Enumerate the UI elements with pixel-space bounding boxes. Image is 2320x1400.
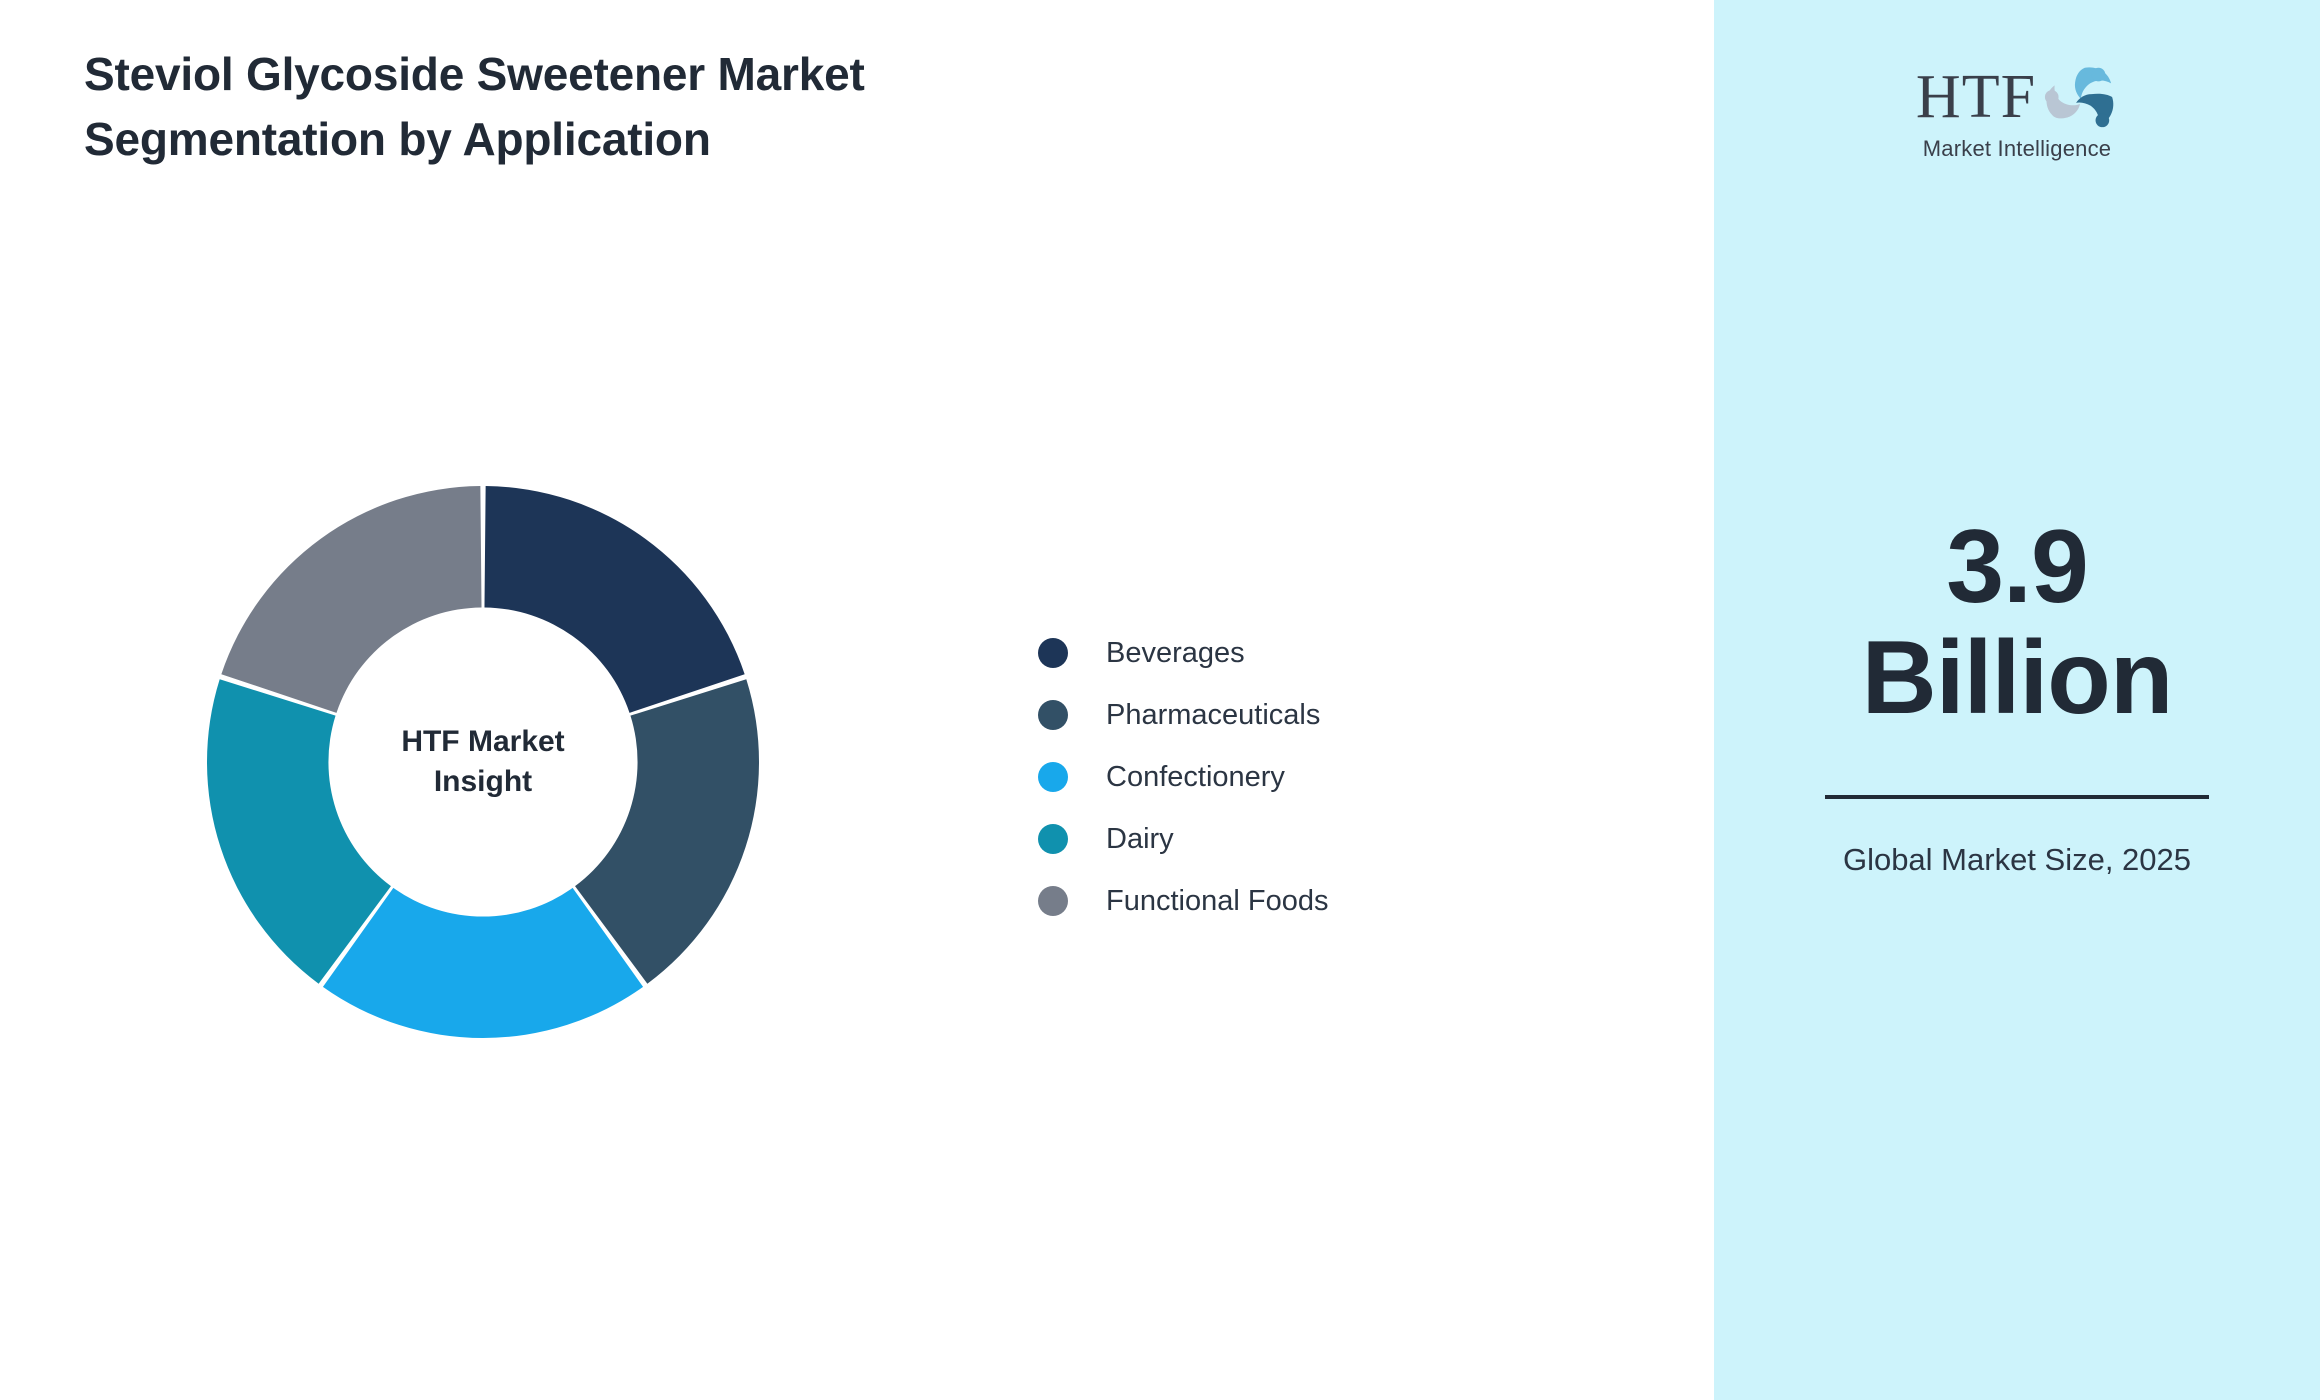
- stat-value: 3.9 Billion: [1767, 512, 2267, 735]
- sidebar-panel: HTF Market Intelligence 3.9: [1714, 0, 2320, 1400]
- legend-swatch-icon: [1038, 886, 1068, 916]
- stat-value-number: 3.9: [1946, 509, 2088, 625]
- legend-item[interactable]: Functional Foods: [1038, 870, 1328, 932]
- legend-item[interactable]: Confectionery: [1038, 746, 1328, 808]
- legend-item[interactable]: Dairy: [1038, 808, 1328, 870]
- legend-item-label: Functional Foods: [1106, 885, 1328, 918]
- infographic-canvas: Steviol Glycoside Sweetener Market Segme…: [0, 0, 2320, 1400]
- legend-swatch-icon: [1038, 638, 1068, 668]
- legend-item-label: Dairy: [1106, 823, 1174, 856]
- legend-swatch-icon: [1038, 700, 1068, 730]
- legend-swatch-icon: [1038, 824, 1068, 854]
- stat-caption: Global Market Size, 2025: [1767, 839, 2267, 882]
- logo-tagline: Market Intelligence: [1892, 136, 2142, 162]
- stat-value-unit: Billion: [1767, 623, 2267, 734]
- legend-item[interactable]: Pharmaceuticals: [1038, 684, 1328, 746]
- logo-row: HTF: [1892, 60, 2142, 134]
- main-panel: Steviol Glycoside Sweetener Market Segme…: [0, 0, 1714, 1400]
- legend-item-label: Pharmaceuticals: [1106, 699, 1320, 732]
- donut-chart: HTF Market Insight: [207, 486, 759, 1038]
- legend-swatch-icon: [1038, 762, 1068, 792]
- stat-block: 3.9 Billion Global Market Size, 2025: [1767, 512, 2267, 881]
- stat-divider: [1825, 795, 2209, 799]
- page-title: Steviol Glycoside Sweetener Market Segme…: [84, 42, 904, 173]
- donut-slice-functional-foods[interactable]: [221, 486, 481, 713]
- legend-item[interactable]: Beverages: [1038, 622, 1328, 684]
- donut-chart-svg: [207, 486, 759, 1038]
- htf-triskelion-icon: [2040, 60, 2118, 134]
- legend-item-label: Confectionery: [1106, 761, 1285, 794]
- donut-slice-beverages[interactable]: [484, 486, 744, 713]
- logo-wordmark: HTF: [1916, 66, 2036, 128]
- legend-item-label: Beverages: [1106, 637, 1245, 670]
- brand-logo: HTF Market Intelligence: [1892, 60, 2142, 162]
- chart-legend: BeveragesPharmaceuticalsConfectioneryDai…: [1038, 622, 1328, 932]
